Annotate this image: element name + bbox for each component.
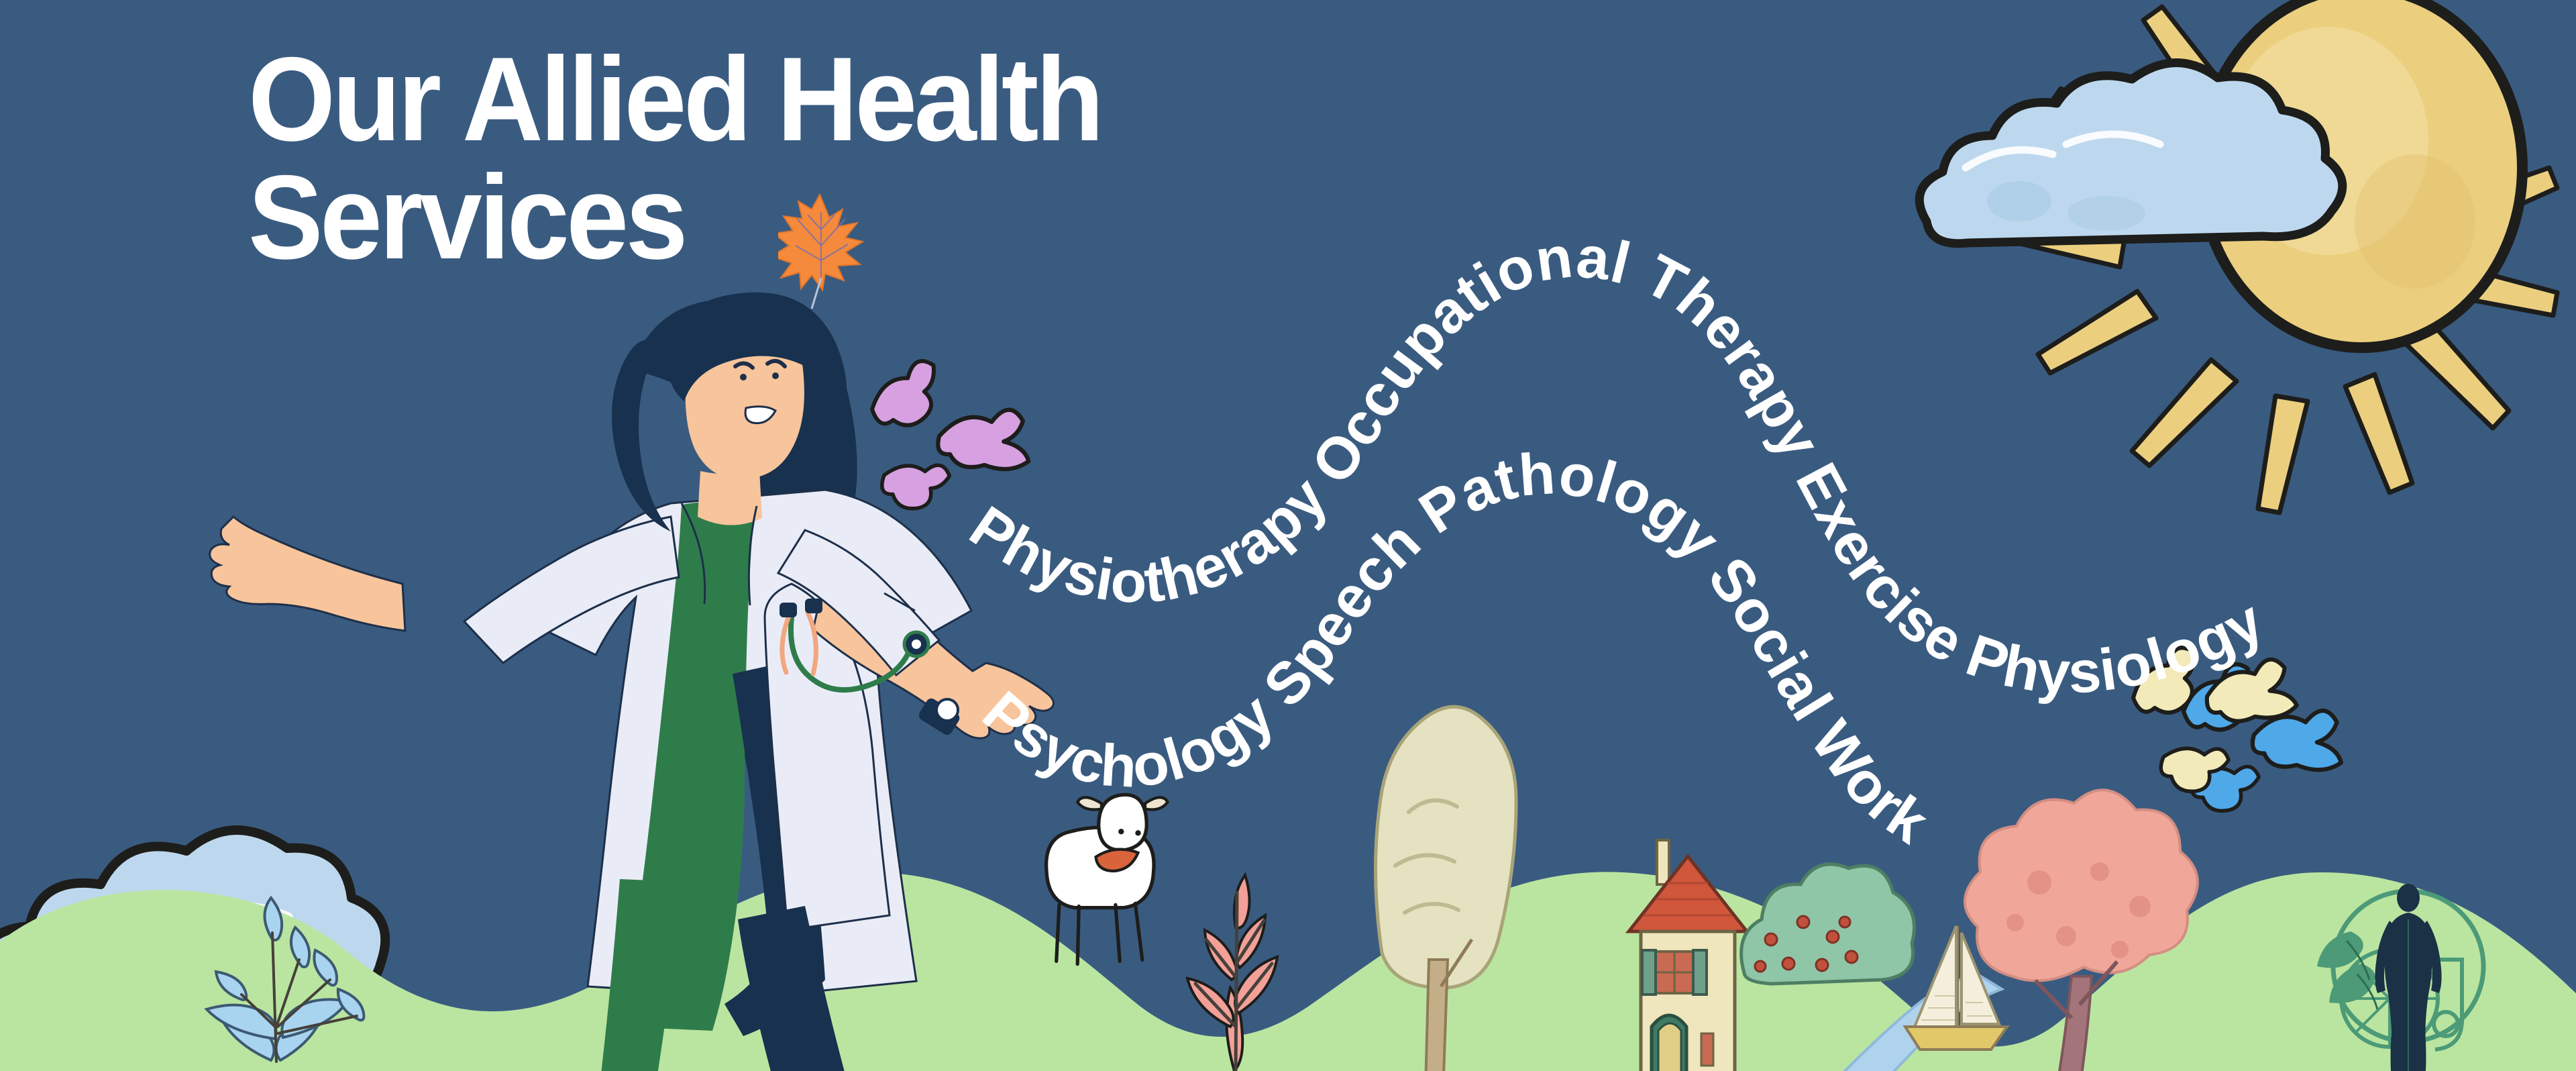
allied-health-banner: Physiotherapy Occupational Therapy Exerc… <box>0 0 2576 1071</box>
allied-health-logo <box>2317 884 2483 1071</box>
logo-layer <box>0 0 2576 1071</box>
